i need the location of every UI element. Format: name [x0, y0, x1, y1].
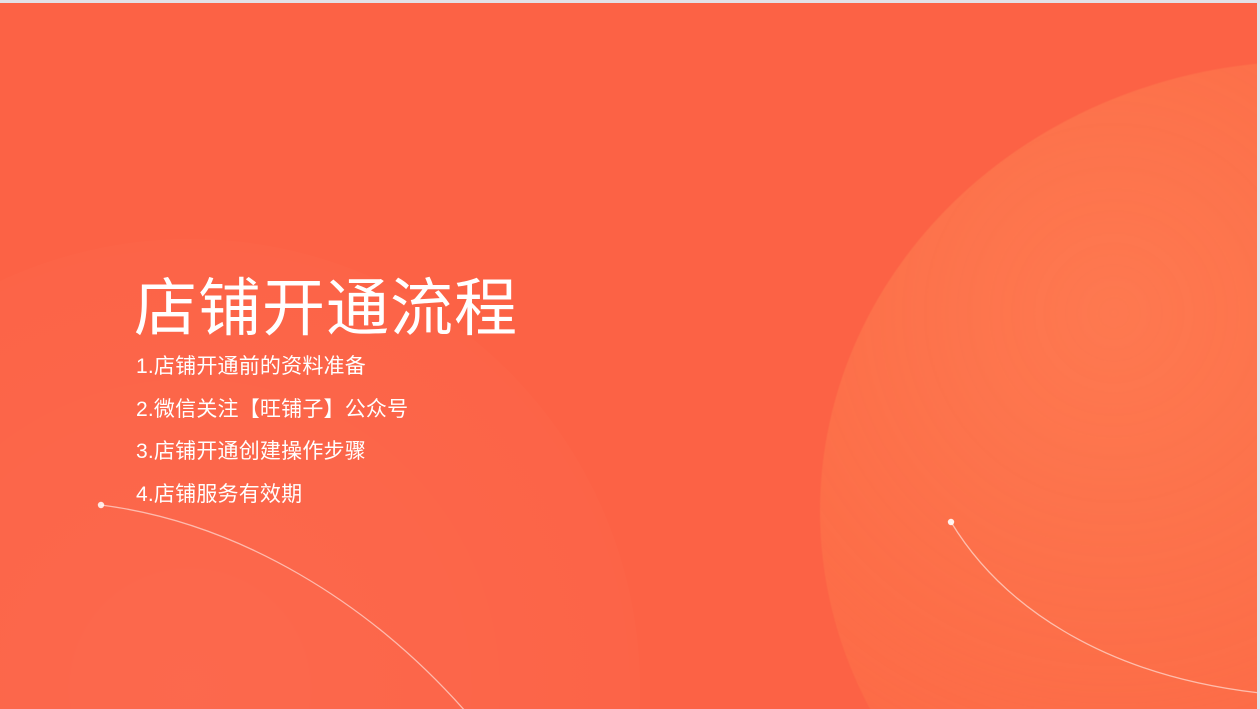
agenda-list: 1.店铺开通前的资料准备 2.微信关注【旺铺子】公众号 3.店铺开通创建操作步骤…: [136, 346, 408, 516]
agenda-item-4: 4.店铺服务有效期: [136, 474, 408, 517]
agenda-item-2-number: 2.: [136, 398, 154, 421]
slide-content: 店铺开通流程 1.店铺开通前的资料准备 2.微信关注【旺铺子】公众号 3.店铺开…: [0, 3, 1257, 709]
agenda-item-2-label: 微信关注【旺铺子】公众号: [154, 398, 408, 421]
agenda-item-2: 2.微信关注【旺铺子】公众号: [136, 389, 408, 432]
presentation-slide: 店铺开通流程 1.店铺开通前的资料准备 2.微信关注【旺铺子】公众号 3.店铺开…: [0, 0, 1260, 709]
agenda-item-4-label: 店铺服务有效期: [154, 483, 302, 506]
slide-title: 店铺开通流程: [134, 274, 518, 345]
agenda-item-3-number: 3.: [136, 440, 154, 463]
agenda-item-1-label: 店铺开通前的资料准备: [154, 355, 366, 378]
agenda-item-4-number: 4.: [136, 483, 154, 506]
agenda-item-3: 3.店铺开通创建操作步骤: [136, 431, 408, 474]
agenda-item-1-number: 1.: [136, 355, 154, 378]
agenda-item-1: 1.店铺开通前的资料准备: [136, 346, 408, 389]
agenda-item-3-label: 店铺开通创建操作步骤: [154, 440, 366, 463]
